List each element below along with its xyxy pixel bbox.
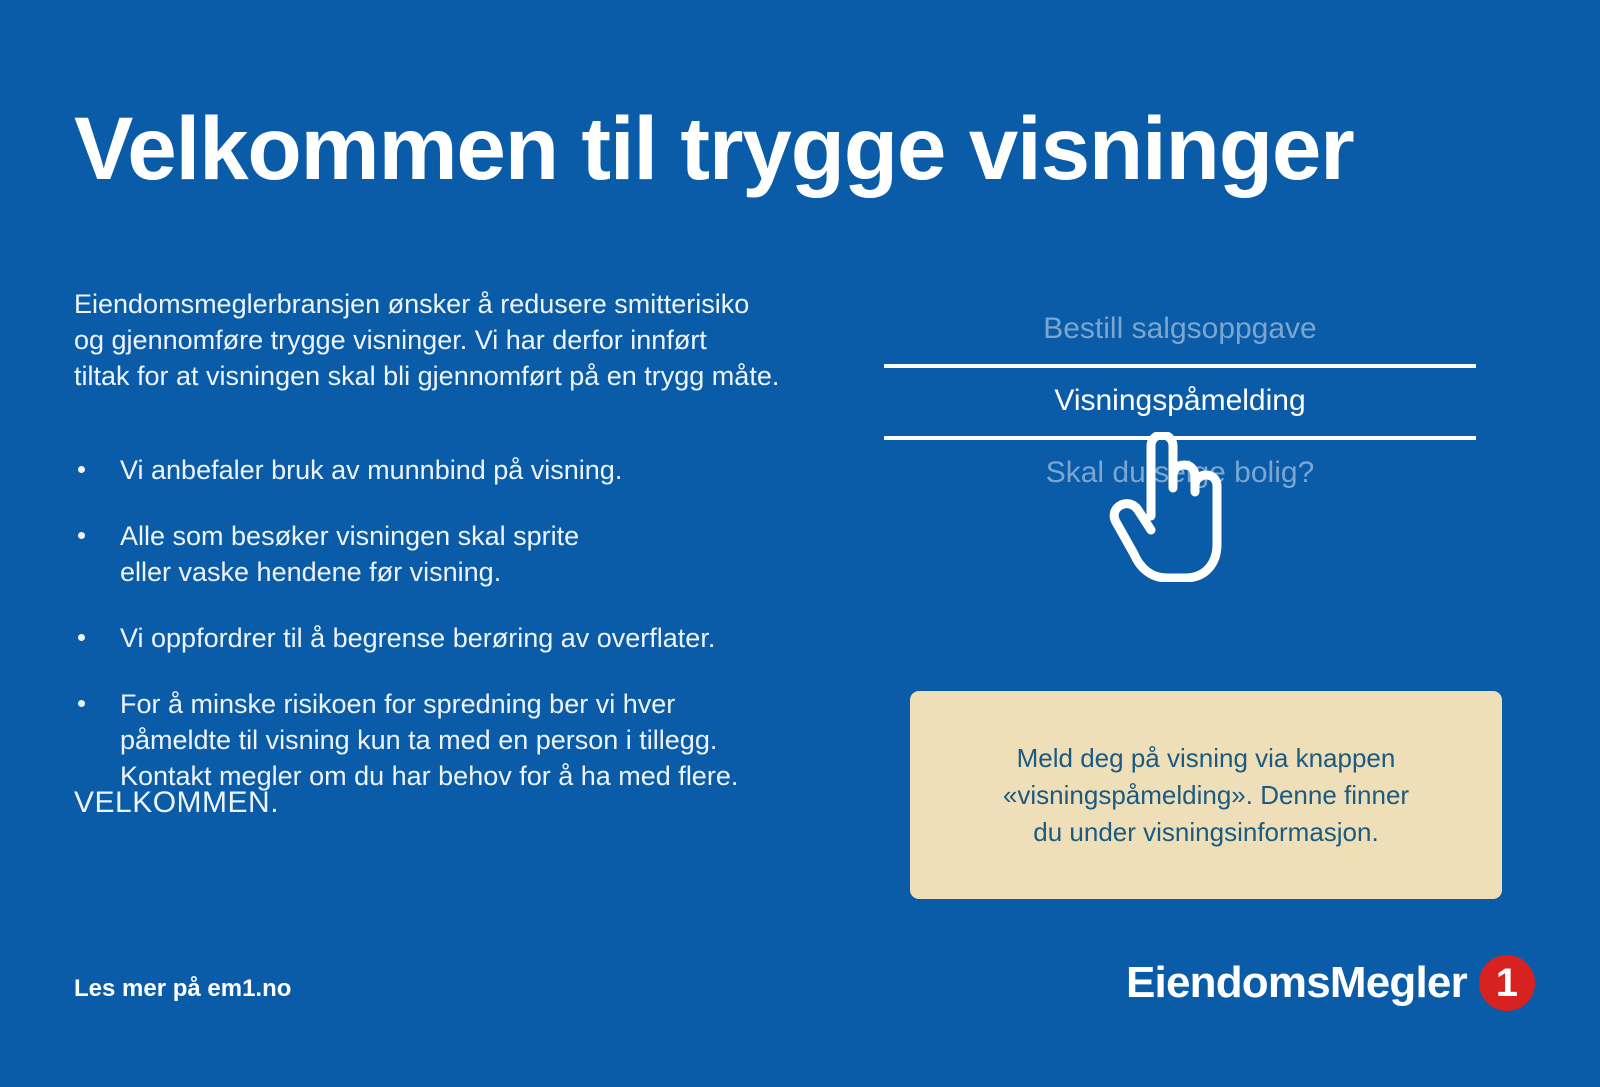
intro-line-3: tiltak for at visningen skal bli gjennom… bbox=[74, 358, 794, 394]
menu-item-visningspamelding[interactable]: Visningspåmelding bbox=[884, 368, 1476, 436]
eiendomsmegler1-logo: EiendomsMegler 1 bbox=[1126, 955, 1535, 1011]
logo-badge-one: 1 bbox=[1479, 955, 1535, 1011]
pointing-hand-cursor-icon bbox=[1107, 432, 1225, 582]
info-line-2: «visningspåmelding». Denne finner bbox=[1003, 777, 1409, 814]
bullet-dot-icon bbox=[78, 634, 85, 641]
info-line-3: du under visningsinformasjon. bbox=[1003, 814, 1409, 851]
page-title: Velkommen til trygge visninger bbox=[74, 104, 1534, 193]
list-item-line: Vi oppfordrer til å begrense berøring av… bbox=[120, 620, 794, 656]
logo-wordmark: EiendomsMegler bbox=[1126, 961, 1467, 1005]
list-item-line: For å minske risikoen for spredning ber … bbox=[120, 686, 794, 722]
list-item: Alle som besøker visningen skal sprite e… bbox=[74, 518, 794, 590]
list-item-line: Alle som besøker visningen skal sprite bbox=[120, 518, 794, 554]
info-callout-box: Meld deg på visning via knappen «visning… bbox=[910, 691, 1502, 899]
info-line-1: Meld deg på visning via knappen bbox=[1003, 740, 1409, 777]
bullet-dot-icon bbox=[78, 700, 85, 707]
list-item-line: eller vaske hendene før visning. bbox=[120, 554, 794, 590]
list-item: For å minske risikoen for spredning ber … bbox=[74, 686, 794, 794]
left-content-column: Eiendomsmeglerbransjen ønsker å redusere… bbox=[74, 286, 794, 794]
list-item: Vi anbefaler bruk av munnbind på visning… bbox=[74, 452, 794, 488]
list-item-line: Vi anbefaler bruk av munnbind på visning… bbox=[120, 452, 794, 488]
intro-line-2: og gjennomføre trygge visninger. Vi har … bbox=[74, 322, 794, 358]
bullet-dot-icon bbox=[78, 532, 85, 539]
measures-list: Vi anbefaler bruk av munnbind på visning… bbox=[74, 452, 794, 794]
poster-canvas: Velkommen til trygge visninger Eiendomsm… bbox=[0, 0, 1600, 1087]
bullet-dot-icon bbox=[78, 466, 85, 473]
list-item: Vi oppfordrer til å begrense berøring av… bbox=[74, 620, 794, 656]
menu-item-bestill-salgsoppgave[interactable]: Bestill salgsoppgave bbox=[884, 296, 1476, 364]
intro-paragraph: Eiendomsmeglerbransjen ønsker å redusere… bbox=[74, 286, 794, 394]
closing-text: VELKOMMEN. bbox=[74, 786, 279, 820]
info-callout-text: Meld deg på visning via knappen «visning… bbox=[1003, 740, 1409, 851]
read-more-link[interactable]: Les mer på em1.no bbox=[74, 975, 291, 1003]
intro-line-1: Eiendomsmeglerbransjen ønsker å redusere… bbox=[74, 286, 794, 322]
list-item-line: påmeldte til visning kun ta med en perso… bbox=[120, 722, 794, 758]
